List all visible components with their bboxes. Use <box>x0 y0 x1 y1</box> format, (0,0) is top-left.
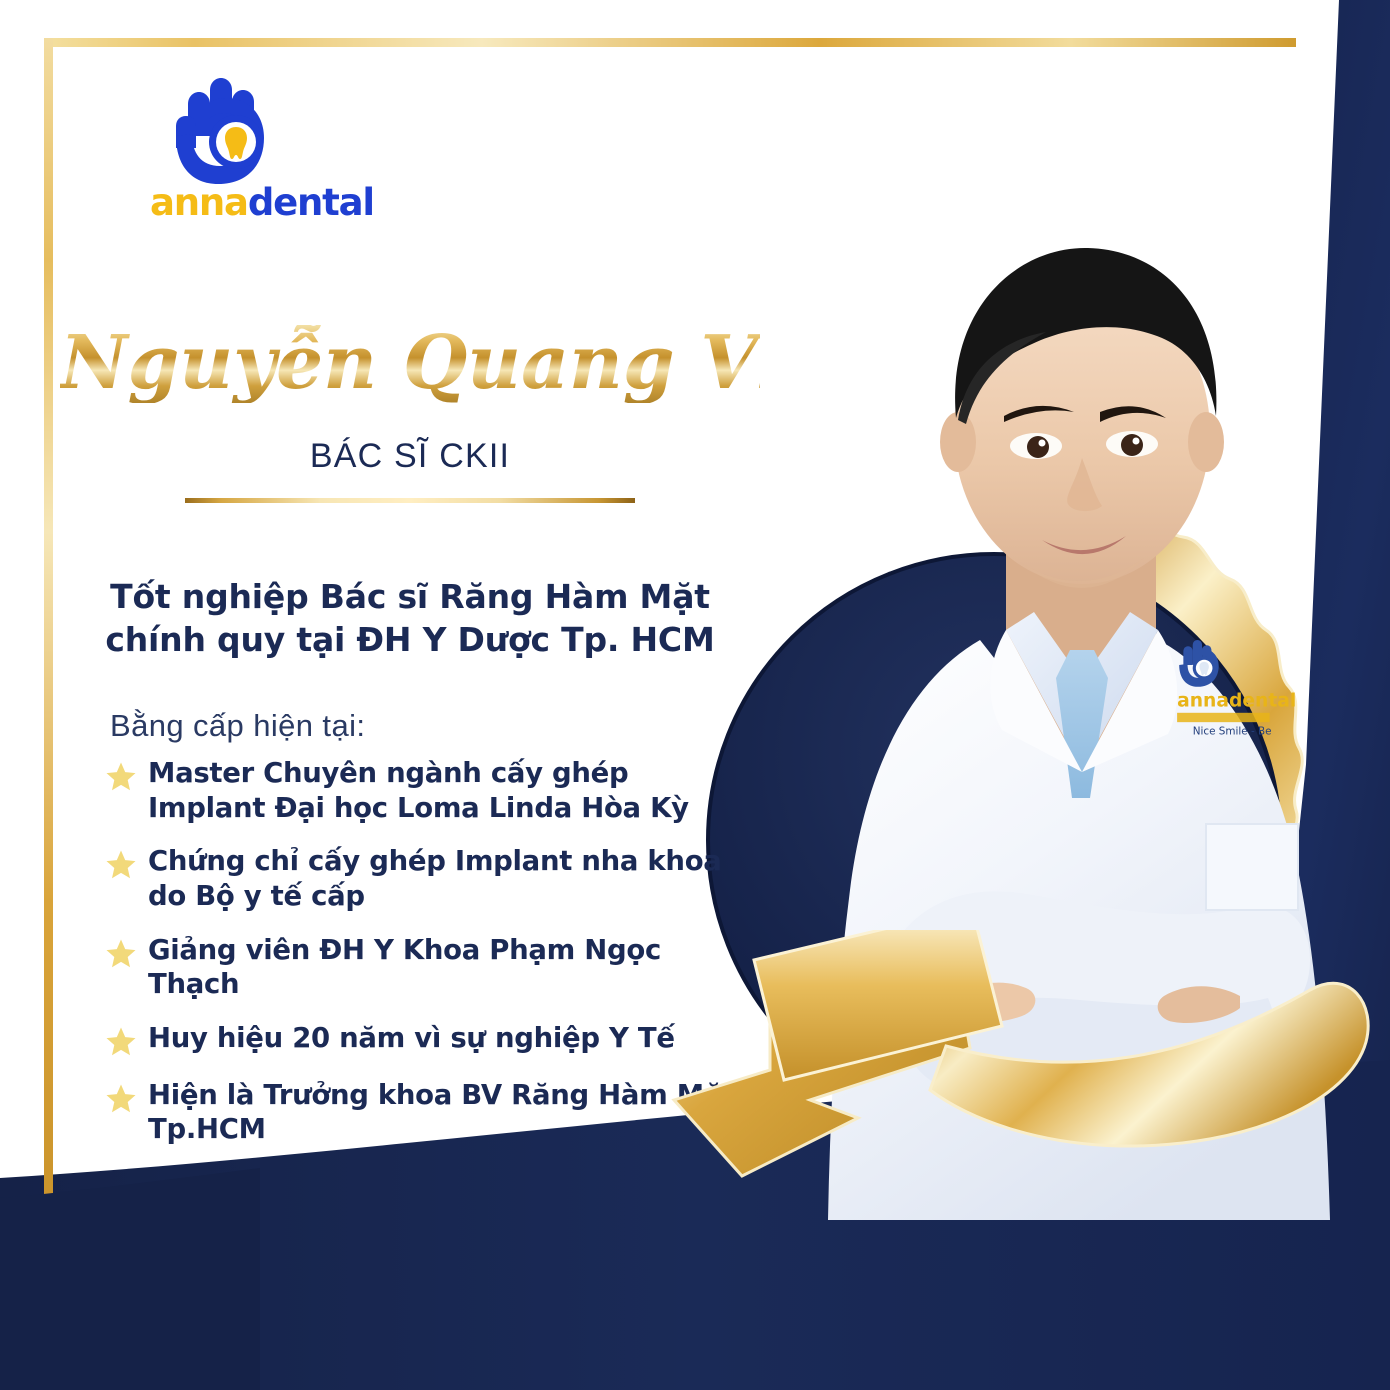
logo-anna-text: anna <box>150 181 248 224</box>
star-icon <box>104 848 138 882</box>
logo-dental-text: dental <box>248 181 374 224</box>
star-icon <box>104 937 138 971</box>
education-text: Tốt nghiệp Bác sĩ Răng Hàm Mặt chính quy… <box>60 576 760 662</box>
qualification-item: Giảng viên ĐH Y Khoa Phạm Ngọc Thạch <box>104 933 744 1002</box>
qualification-item: Chứng chỉ cấy ghép Implant nha khoa do B… <box>104 844 744 913</box>
education-line-1: Tốt nghiệp Bác sĩ Răng Hàm Mặt <box>60 576 760 619</box>
star-icon <box>104 1082 138 1116</box>
qualification-item: Huy hiệu 20 năm vì sự nghiệp Y Tế <box>104 1021 744 1059</box>
qualifications-list: Master Chuyên ngành cấy ghép Implant Đại… <box>104 756 744 1166</box>
logo-wordmark: annadental <box>150 181 390 224</box>
page-title: Nguyễn Quang Việt <box>60 325 760 403</box>
svg-text:annadental: annadental <box>1177 691 1296 712</box>
frame-mask <box>0 1160 260 1390</box>
qualification-text: Huy hiệu 20 năm vì sự nghiệp Y Tế <box>148 1021 675 1056</box>
qualification-text: Master Chuyên ngành cấy ghép Implant Đại… <box>148 756 744 825</box>
svg-text:Nice Smile - Be: Nice Smile - Be <box>1193 726 1272 738</box>
gold-ribbon-banner <box>650 930 1390 1230</box>
dentist-profile-card: annadental <box>0 0 1390 1390</box>
education-line-2: chính quy tại ĐH Y Dược Tp. HCM <box>60 619 760 662</box>
ok-hand-tooth-icon <box>150 74 390 184</box>
star-icon <box>104 1025 138 1059</box>
gold-divider <box>185 498 635 503</box>
doctor-credential-title: BÁC SĨ CKII <box>60 437 760 476</box>
qualification-item: Master Chuyên ngành cấy ghép Implant Đại… <box>104 756 744 825</box>
qualification-text: Chứng chỉ cấy ghép Implant nha khoa do B… <box>148 844 744 913</box>
gold-frame-top <box>44 38 1296 47</box>
annadental-logo: annadental <box>150 74 390 224</box>
star-icon <box>104 760 138 794</box>
qualification-item: Hiện là Trưởng khoa BV Răng Hàm Mặt Tp.H… <box>104 1078 744 1147</box>
gold-frame-left <box>44 38 53 1273</box>
qualifications-label: Bằng cấp hiện tại: <box>110 708 365 744</box>
